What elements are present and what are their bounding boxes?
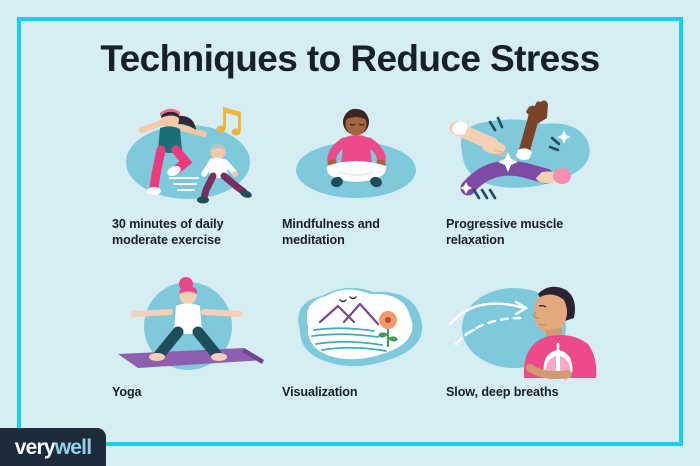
caption-line-1: Slow, deep breaths <box>446 384 596 400</box>
logo-text-well: well <box>55 436 91 459</box>
page-title: Techniques to Reduce Stress <box>17 40 683 79</box>
technique-caption-yoga: Yoga <box>112 384 262 400</box>
technique-item-muscle-relaxation: Progressive muscle relaxation <box>446 100 622 248</box>
technique-caption-exercise: 30 minutes of daily moderate exercise <box>112 216 262 248</box>
muscle-relaxation-illustration-svg <box>446 100 614 210</box>
technique-item-mindfulness: Mindfulness and meditation <box>282 100 458 248</box>
illustration-muscle-relaxation <box>446 100 614 210</box>
illustration-yoga <box>112 278 280 378</box>
technique-item-yoga: Yoga <box>112 278 288 400</box>
caption-line-1: Mindfulness and <box>282 216 432 232</box>
illustration-visualization <box>282 278 450 378</box>
logo-wordmark: verywell <box>15 437 92 458</box>
breathing-illustration-svg <box>446 278 614 378</box>
verywell-logo: verywell <box>0 428 106 466</box>
caption-line-1: 30 minutes of daily <box>112 216 262 232</box>
illustration-breathing <box>446 278 614 378</box>
techniques-grid: 30 minutes of daily moderate exercise <box>112 100 622 420</box>
logo-text-very: very <box>15 436 55 459</box>
meditation-illustration-svg <box>282 100 450 210</box>
infographic-canvas: Techniques to Reduce Stress <box>0 0 700 466</box>
technique-item-visualization: Visualization <box>282 278 458 400</box>
caption-line-2: relaxation <box>446 232 596 248</box>
technique-item-exercise: 30 minutes of daily moderate exercise <box>112 100 288 248</box>
caption-line-1: Yoga <box>112 384 262 400</box>
caption-line-1: Progressive muscle <box>446 216 596 232</box>
illustration-meditation <box>282 100 450 210</box>
technique-caption-visualization: Visualization <box>282 384 432 400</box>
meditating-person-figure <box>327 109 386 189</box>
illustration-running-exercise <box>112 100 280 210</box>
technique-caption-mindfulness: Mindfulness and meditation <box>282 216 432 248</box>
music-notes-icon <box>217 107 242 136</box>
technique-caption-breathing: Slow, deep breaths <box>446 384 596 400</box>
technique-caption-muscle-relaxation: Progressive muscle relaxation <box>446 216 596 248</box>
visualization-illustration-svg <box>282 278 450 378</box>
yoga-illustration-svg <box>112 278 280 378</box>
technique-item-breathing: Slow, deep breaths <box>446 278 622 400</box>
exercise-illustration-svg <box>112 100 280 210</box>
caption-line-1: Visualization <box>282 384 432 400</box>
caption-line-2: moderate exercise <box>112 232 262 248</box>
caption-line-2: meditation <box>282 232 432 248</box>
